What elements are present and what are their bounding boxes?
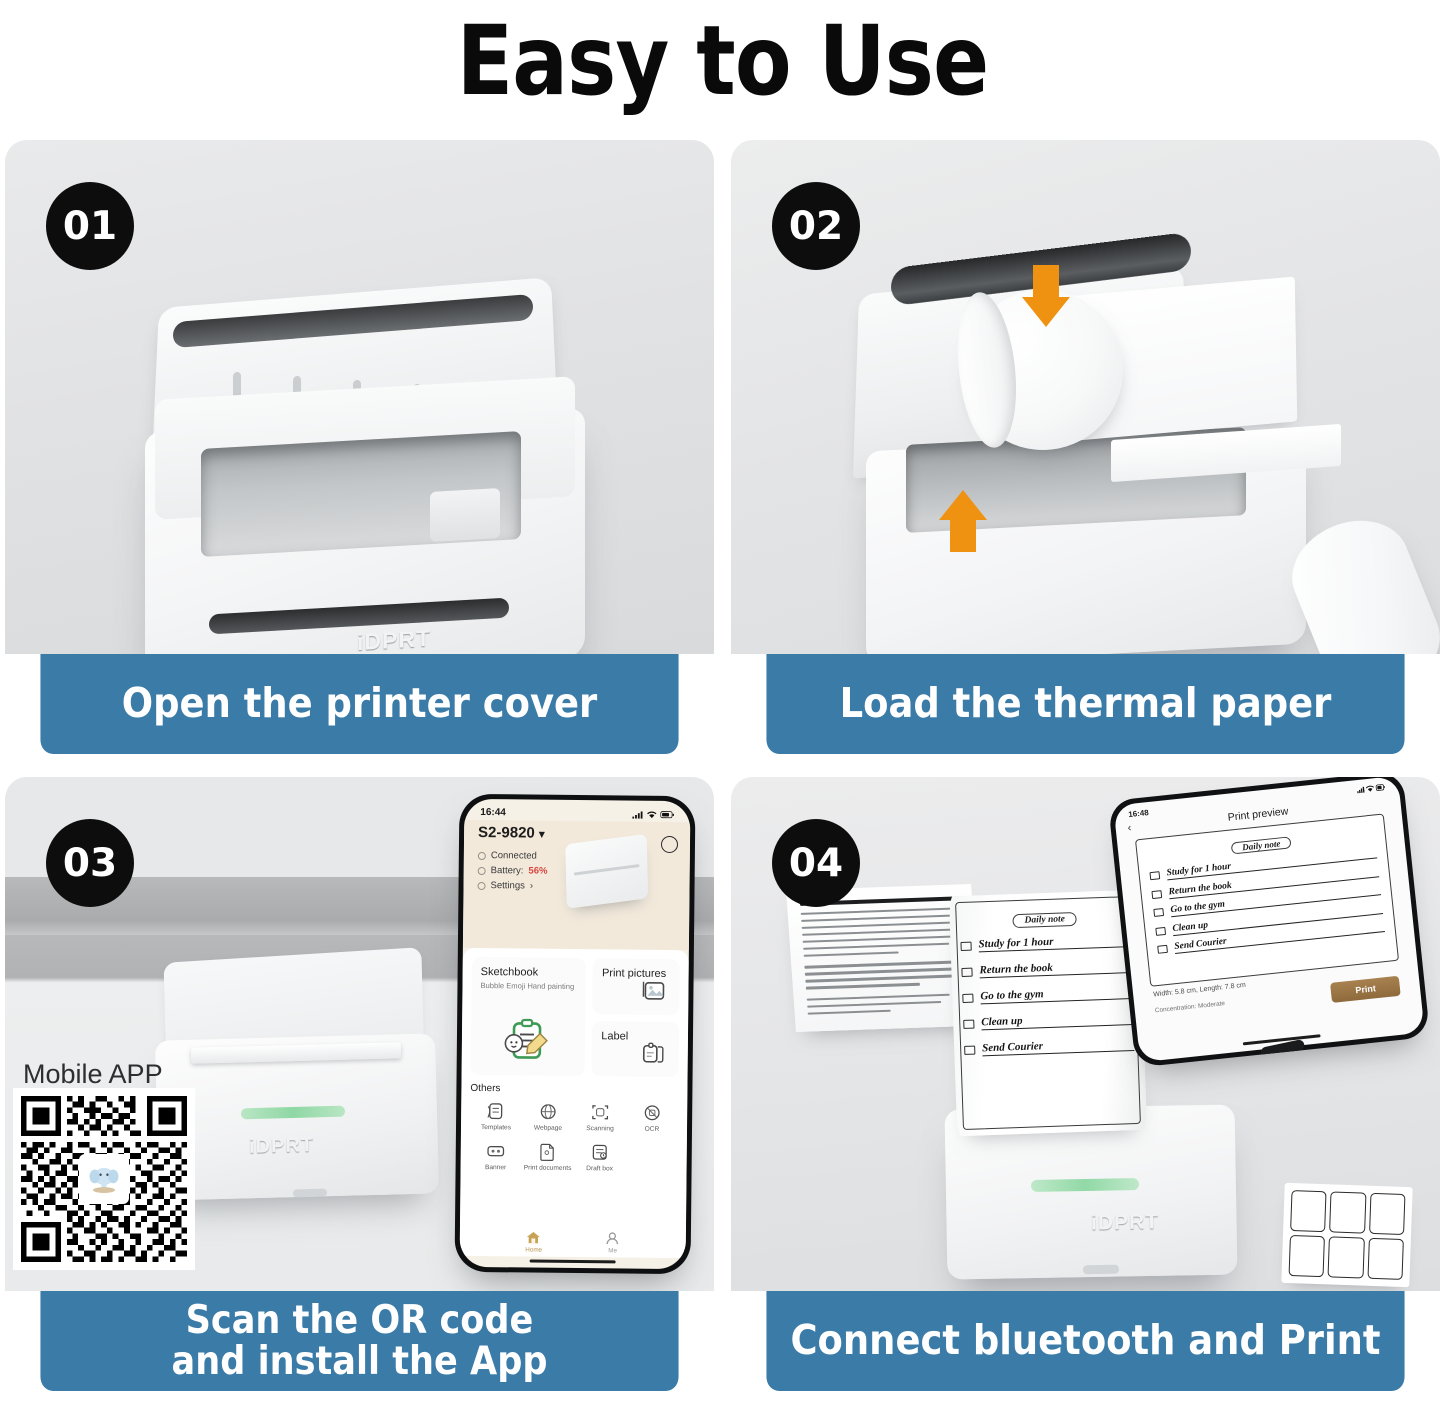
card-subtitle: Bubble Emoji Hand painting [480, 981, 576, 992]
others-label: Draft box [586, 1165, 613, 1173]
sticker-shape [1329, 1191, 1366, 1233]
ocr-icon [642, 1103, 662, 1123]
note-item: Return the book [961, 959, 1131, 979]
clipboard-pencil-icon [502, 1017, 555, 1069]
battery-label: Battery: [491, 865, 524, 876]
step-caption-04: Connect bluetooth and Print [766, 1291, 1404, 1391]
checkbox-icon [964, 1046, 975, 1055]
mobile-app-label: Mobile APP [23, 1059, 163, 1090]
home-icon [526, 1231, 541, 1245]
concentration-label: Concentration: Moderate [1155, 1000, 1226, 1016]
others-label: Scanning [586, 1125, 614, 1133]
step-badge-02: 02 [772, 182, 860, 270]
preview-note-title: Daily note [1231, 836, 1292, 854]
note-item-text: Go to the gym [980, 985, 1132, 1004]
infographic-page: Easy to Use iDPRT 01 Open the pr [0, 0, 1445, 1407]
brand-logo: iDPRT [249, 1134, 315, 1159]
photo-icon [640, 978, 666, 1007]
document-icon [538, 1142, 558, 1162]
note-item: Send Courier [964, 1037, 1134, 1057]
status-time: 16:44 [480, 807, 506, 818]
templates-icon [486, 1101, 506, 1121]
device-name: S2-9820 [478, 824, 535, 842]
step-02-photo: iDPRT 02 [731, 140, 1440, 654]
right-card-stack: Print pictures [592, 958, 680, 1077]
others-item-print-documents[interactable]: Print documents [522, 1141, 574, 1173]
others-item-ocr[interactable]: OCR [626, 1103, 678, 1135]
wifi-icon [646, 810, 657, 818]
chevron-left-icon[interactable]: ‹ [1127, 822, 1132, 834]
others-label: Templates [481, 1124, 511, 1132]
others-title: Others [470, 1083, 678, 1096]
sticker-shape [1328, 1236, 1365, 1278]
sticker-shape [1367, 1238, 1404, 1280]
others-label: Banner [485, 1164, 506, 1172]
step-badge-01: 01 [46, 182, 134, 270]
others-item-webpage[interactable]: Webpage [522, 1101, 574, 1133]
card-title: Sketchbook [481, 966, 577, 979]
caption-line-1: Scan the OR code [186, 1298, 534, 1343]
print-preview-screen: 16:48 [1113, 777, 1424, 1062]
connected-label: Connected [491, 850, 537, 861]
caption-line-2: and install the App [172, 1339, 548, 1384]
sticker-shape [1289, 1235, 1326, 1277]
sticker-shape [1290, 1190, 1327, 1232]
note-item-text: Study for 1 hour [978, 933, 1130, 952]
phone-device-print-preview: 16:48 [1108, 777, 1430, 1068]
sticker-shape [1369, 1193, 1406, 1235]
step-04-photo: iDPRT Daily note Study for 1 hour Return… [731, 777, 1440, 1291]
label-tag-glyph [640, 1041, 666, 1065]
elephant-logo-icon [79, 1154, 129, 1204]
note-item: Clean up [963, 1011, 1133, 1031]
others-item-empty [626, 1143, 678, 1175]
checkbox-icon [962, 994, 973, 1003]
others-item-banner[interactable]: Banner [470, 1141, 522, 1173]
webpage-icon [538, 1102, 558, 1122]
status-icons [632, 810, 674, 818]
others-label: Print documents [524, 1165, 572, 1174]
app-home-screen: 16:44 [460, 799, 691, 1269]
step-01-photo: iDPRT 01 [5, 140, 714, 654]
print-button[interactable]: Print [1331, 976, 1401, 1003]
step-03-photo: iDPRT Mobile APP [5, 777, 714, 1291]
others-grid: Templates Webpage [470, 1101, 679, 1174]
others-item-scanning[interactable]: Scanning [574, 1102, 626, 1134]
step-panel-02: iDPRT 02 Load the thermal paper [731, 140, 1440, 754]
others-section: Others Tem [470, 1083, 679, 1174]
person-icon [605, 1231, 620, 1245]
settings-label: Settings [490, 880, 524, 891]
tab-me[interactable]: Me [605, 1231, 620, 1254]
others-item-draft-box[interactable]: Draft box [574, 1142, 626, 1174]
tab-label: Home [525, 1246, 542, 1253]
note-item-text: Return the book [979, 959, 1131, 978]
tab-label: Me [608, 1247, 617, 1254]
brand-logo: iDPRT [1091, 1210, 1159, 1235]
note-title: Daily note [1012, 912, 1077, 928]
card-sketchbook[interactable]: Sketchbook Bubble Emoji Hand painting [471, 957, 587, 1076]
tab-home[interactable]: Home [525, 1230, 542, 1253]
power-button [1083, 1265, 1119, 1275]
printer-side-panel [430, 488, 500, 542]
preview-canvas: Daily note Study for 1 hour Return the b… [1135, 813, 1399, 986]
steps-grid: iDPRT 01 Open the printer cover [5, 140, 1440, 1405]
clipboard-pencil-glyph [502, 1017, 554, 1064]
printed-note-receipt: Daily note Study for 1 hour Return the b… [949, 890, 1147, 1136]
chevron-right-icon: › [530, 881, 533, 892]
sticker-sheet [1281, 1183, 1412, 1287]
banner-icon [486, 1141, 506, 1161]
label-tag-icon [640, 1041, 666, 1070]
others-label: OCR [645, 1126, 660, 1134]
note-item: Go to the gym [962, 985, 1132, 1005]
checkbox-icon [961, 968, 972, 977]
step-caption-02: Load the thermal paper [766, 654, 1404, 754]
bluetooth-dot-icon [478, 851, 486, 859]
page-title: Easy to Use [101, 2, 1344, 122]
step-badge-03: 03 [46, 819, 134, 907]
step-caption-03: Scan the OR code and install the App [40, 1291, 678, 1391]
battery-value: 56% [528, 866, 547, 877]
step-caption-01: Open the printer cover [40, 654, 678, 754]
checkbox-icon [1149, 871, 1160, 880]
checkbox-icon [1155, 926, 1166, 935]
checkbox-icon [1151, 890, 1162, 899]
photo-glyph [640, 978, 666, 1002]
checkbox-icon [960, 942, 971, 951]
status-time: 16:48 [1128, 808, 1149, 820]
home-indicator [530, 1259, 616, 1263]
device-header: ▾ S2-9820 ▾ Connected Batte [463, 820, 690, 950]
device-illustration [565, 834, 648, 909]
checkbox-icon [1153, 908, 1164, 917]
phone-device-app-home: 16:44 [455, 794, 696, 1274]
draft-box-icon [590, 1142, 610, 1162]
brand-logo: iDPRT [357, 625, 431, 654]
gear-dot-icon [478, 881, 486, 889]
feature-cards: Sketchbook Bubble Emoji Hand painting [471, 957, 680, 1077]
note-item: Study for 1 hour [960, 933, 1130, 953]
step-panel-04: iDPRT Daily note Study for 1 hour Return… [731, 777, 1440, 1391]
battery-icon [660, 810, 674, 818]
note-item-text: Clean up [981, 1011, 1133, 1030]
step-panel-01: iDPRT 01 Open the printer cover [5, 140, 714, 754]
checkbox-icon [1157, 945, 1168, 954]
status-bar: 16:44 [464, 799, 690, 822]
chevron-down-icon: ▾ [539, 829, 545, 841]
checkbox-icon [963, 1020, 974, 1029]
elephant-logo-image [87, 1162, 121, 1196]
add-device-icon[interactable]: ▾ [661, 836, 678, 853]
card-label[interactable]: Label [592, 1021, 679, 1077]
power-button [293, 1189, 327, 1198]
others-item-templates[interactable]: Templates [470, 1101, 522, 1133]
others-label: Webpage [534, 1125, 562, 1133]
step-badge-04: 04 [772, 819, 860, 907]
status-led [1031, 1178, 1139, 1192]
app-content: Sketchbook Bubble Emoji Hand painting [460, 948, 689, 1258]
signal-bars-icon [632, 810, 643, 818]
status-icons-glyph [1357, 783, 1386, 794]
card-print-pictures[interactable]: Print pictures [593, 958, 680, 1014]
bottom-tab-bar: Home Me [460, 1230, 686, 1255]
note-item-text: Send Courier [982, 1037, 1134, 1056]
scanning-icon [590, 1102, 610, 1122]
step-panel-03: iDPRT Mobile APP [5, 777, 714, 1391]
battery-dot-icon [478, 866, 486, 874]
qr-code[interactable] [13, 1088, 195, 1270]
status-icons [1357, 783, 1386, 796]
